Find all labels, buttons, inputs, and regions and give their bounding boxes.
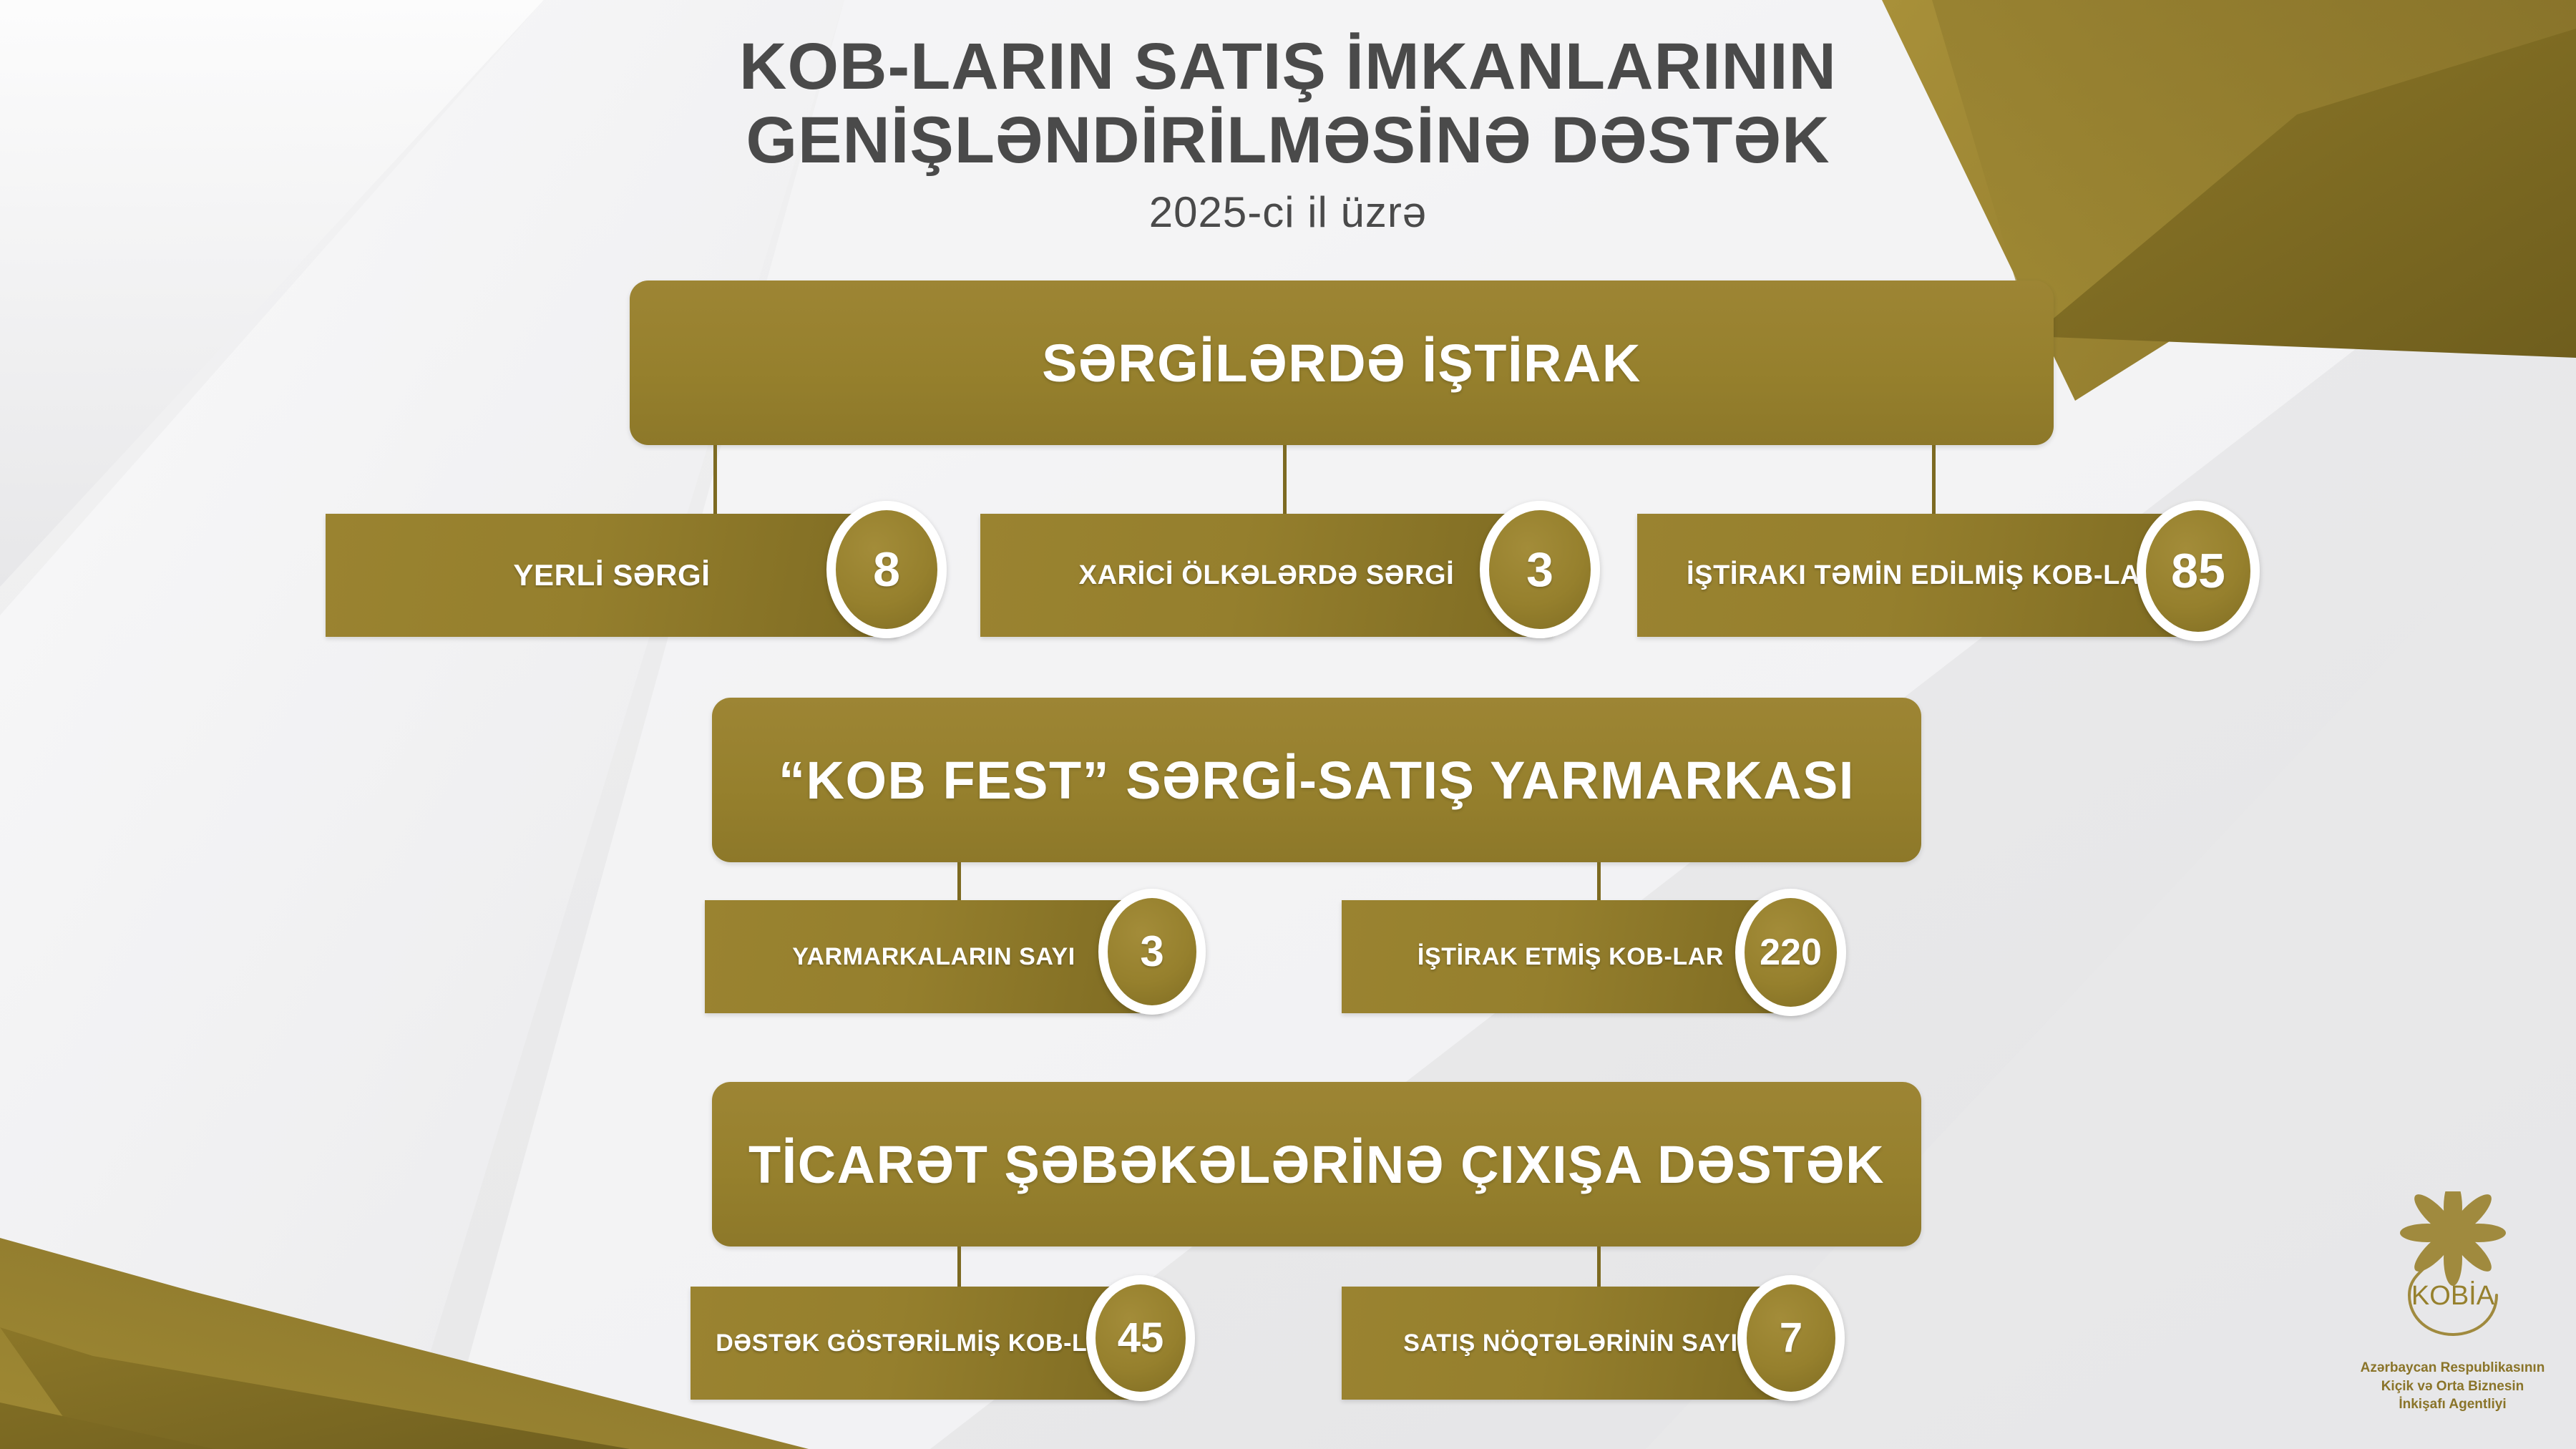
section-banner-label: “KOB FEST” SƏRGİ-SATIŞ YARMARKASI: [779, 750, 1855, 811]
logo-wordmark: KOBİA: [2411, 1280, 2495, 1311]
page-title: KOB-LARIN SATIŞ İMKANLARININ GENİŞLƏNDİR…: [0, 30, 2576, 237]
kobia-logo: KOBİA Azərbaycan Respublikasının Kiçik v…: [2358, 1191, 2547, 1414]
stat-label: YERLİ SƏRGİ: [497, 558, 726, 592]
logo-caption-line-1: Azərbaycan Respublikasının: [2358, 1359, 2547, 1377]
section-banner-ticaret-sebekeleri[interactable]: TİCARƏT ŞƏBƏKƏLƏRİNƏ ÇIXIŞA DƏSTƏK: [712, 1082, 1921, 1246]
stat-label: YARMARKALARIN SAYI: [776, 943, 1091, 970]
stat-label: DƏSTƏK GÖSTƏRİLMİŞ KOB-LAR: [700, 1330, 1138, 1357]
page-subtitle: 2025-ci il üzrə: [0, 187, 2576, 237]
stat-badge-yerli-sergi[interactable]: 8: [826, 501, 947, 638]
logo-caption: Azərbaycan Respublikasının Kiçik və Orta…: [2358, 1359, 2547, 1414]
stat-badge-istiraki-temin-edilmis-kob-lar[interactable]: 85: [2137, 501, 2260, 641]
section-banner-label: TİCARƏT ŞƏBƏKƏLƏRİNƏ ÇIXIŞA DƏSTƏK: [748, 1134, 1885, 1195]
stat-badge-destek-gosterilmis-kob-lar[interactable]: 45: [1086, 1275, 1195, 1401]
logo-mark: KOBİA: [2358, 1191, 2547, 1356]
stat-chip-satis-noqtelerinin-sayi[interactable]: SATIŞ NÖQTƏLƏRİNİN SAYI: [1342, 1287, 1800, 1400]
section-banner-label: SƏRGİLƏRDƏ İŞTİRAK: [1042, 333, 1641, 394]
logo-caption-line-3: İnkişafı Agentliyi: [2358, 1395, 2547, 1414]
connector-line: [1932, 445, 1936, 524]
stat-chip-istiraki-temin-edilmis-kob-lar[interactable]: İŞTİRAKI TƏMİN EDİLMİŞ KOB-LAR: [1637, 514, 2210, 637]
stat-label: XARİCİ ÖLKƏLƏRDƏ SƏRGİ: [1063, 560, 1470, 591]
stat-badge-xarici-olkelerde-sergi[interactable]: 3: [1480, 501, 1600, 638]
stat-value: 220: [1760, 934, 1822, 971]
connector-line: [713, 445, 717, 524]
stat-badge-yarmarkalarin-sayi[interactable]: 3: [1098, 889, 1206, 1015]
stat-label: İŞTİRAK ETMİŞ KOB-LAR: [1402, 943, 1740, 970]
stat-chip-istirak-etmis-kob-lar[interactable]: İŞTİRAK ETMİŞ KOB-LAR: [1342, 900, 1800, 1013]
stat-label: SATIŞ NÖQTƏLƏRİNİN SAYI: [1387, 1330, 1753, 1357]
title-line-1: KOB-LARIN SATIŞ İMKANLARININ: [0, 30, 2576, 104]
flower-icon: KOBİA: [2358, 1191, 2547, 1356]
stat-value: 85: [2171, 547, 2225, 595]
stat-value: 45: [1118, 1317, 1164, 1359]
stat-badge-istirak-etmis-kob-lar[interactable]: 220: [1735, 889, 1846, 1016]
title-line-2: GENİŞLƏNDİRİLMƏSİNƏ DƏSTƏK: [0, 104, 2576, 177]
section-banner-exhibitions[interactable]: SƏRGİLƏRDƏ İŞTİRAK: [630, 280, 2054, 445]
stat-chip-xarici-olkelerde-sergi[interactable]: XARİCİ ÖLKƏLƏRDƏ SƏRGİ: [980, 514, 1553, 637]
stat-chip-yarmarkalarin-sayi[interactable]: YARMARKALARIN SAYI: [705, 900, 1163, 1013]
stat-chip-yerli-sergi[interactable]: YERLİ SƏRGİ: [326, 514, 898, 637]
stat-value: 8: [873, 545, 900, 594]
stat-label: İŞTİRAKI TƏMİN EDİLMİŞ KOB-LAR: [1671, 560, 2176, 591]
stat-value: 7: [1780, 1317, 1802, 1359]
stat-value: 3: [1526, 545, 1553, 594]
stat-value: 3: [1140, 930, 1163, 973]
logo-caption-line-2: Kiçik və Orta Biznesin: [2358, 1377, 2547, 1396]
section-banner-kob-fest[interactable]: “KOB FEST” SƏRGİ-SATIŞ YARMARKASI: [712, 698, 1921, 862]
connector-line: [1283, 445, 1287, 524]
stat-badge-satis-noqtelerinin-sayi[interactable]: 7: [1737, 1275, 1845, 1401]
stat-chip-destek-gosterilmis-kob-lar[interactable]: DƏSTƏK GÖSTƏRİLMİŞ KOB-LAR: [691, 1287, 1148, 1400]
